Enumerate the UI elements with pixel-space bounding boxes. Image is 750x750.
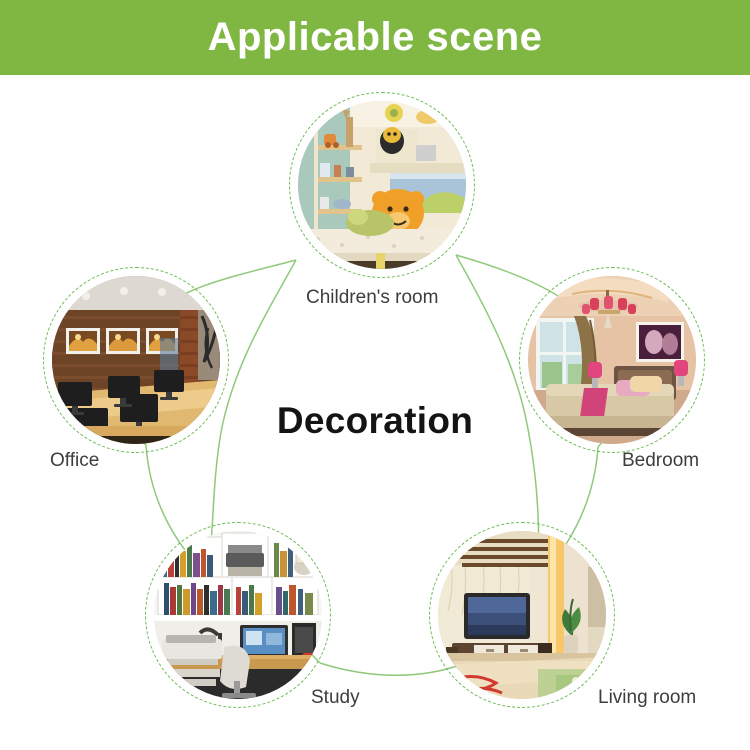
page-title: Applicable scene	[208, 15, 543, 60]
node-label-childrens-room: Children's room	[306, 287, 438, 309]
node-label-study: Study	[311, 687, 360, 709]
living-room-ring	[429, 522, 615, 708]
node-office[interactable]	[43, 267, 229, 453]
diagram-stage: Decoration	[0, 75, 750, 750]
node-study[interactable]	[145, 522, 331, 708]
node-label-office: Office	[50, 450, 99, 472]
header-banner: Applicable scene	[0, 0, 750, 75]
applicable-scene-infographic: Applicable scene	[0, 0, 750, 750]
node-label-bedroom: Bedroom	[622, 450, 699, 472]
childrens-room-ring	[289, 92, 475, 278]
node-living-room[interactable]	[429, 522, 615, 708]
node-childrens-room[interactable]	[289, 92, 475, 278]
bedroom-ring	[519, 267, 705, 453]
office-ring	[43, 267, 229, 453]
node-bedroom[interactable]	[519, 267, 705, 453]
node-label-living-room: Living room	[598, 687, 696, 709]
study-ring	[145, 522, 331, 708]
